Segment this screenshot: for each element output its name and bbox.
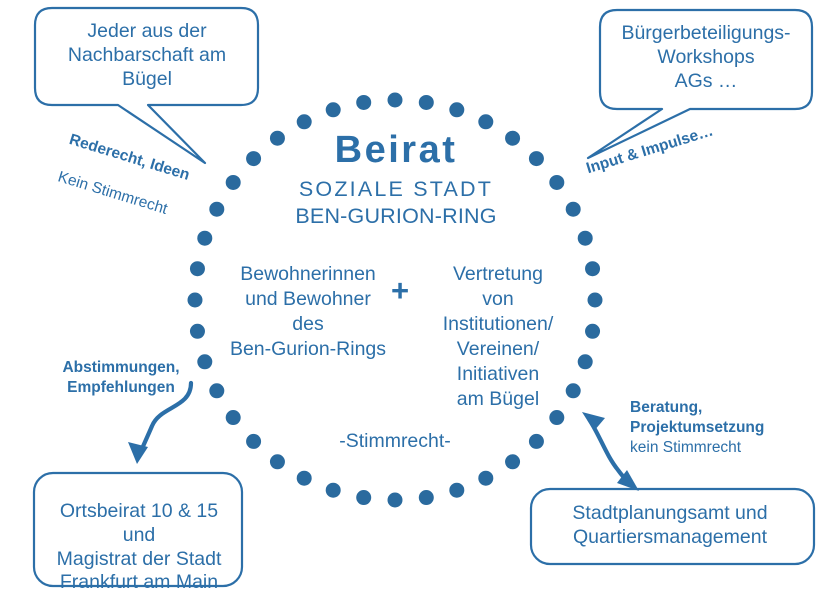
ring-dot [419,490,434,505]
center-voting-note: -Stimmrecht- [300,430,490,454]
ring-dot [190,324,205,339]
ring-dot [529,434,544,449]
ring-dot [326,483,341,498]
box-text-bottom-right: Stadtplanungsamt und Quartiersmanagement [536,502,804,550]
page-title: Beirat [265,127,527,173]
ring-dot [585,261,600,276]
bubble-text-top-right: Bürgerbeteiligungs- Workshops AGs … [608,22,804,93]
ring-dot [209,202,224,217]
ring-dot [356,490,371,505]
ring-dot [326,102,341,117]
ring-dot [197,354,212,369]
ring-dot [449,483,464,498]
ring-dot [578,231,593,246]
center-left-column: Bewohnerinnen und Bewohner des Ben-Gurio… [218,262,398,362]
ring-dot [190,261,205,276]
ring-dot [449,102,464,117]
ring-dot [297,471,312,486]
ring-dot [588,293,603,308]
ring-dot [419,95,434,110]
box-text-bottom-left: Ortsbeirat 10 & 15 und Magistrat der Sta… [40,500,238,595]
center-subtitle-2: BEN-GURION-RING [265,203,527,229]
ring-dot [505,454,520,469]
annotation-top-right: Input & Impulse… [584,121,716,178]
plus-icon: + [384,275,416,306]
center-right-column: Vertretung von Institutionen/ Vereinen/ … [418,262,578,412]
ring-dot [549,175,564,190]
ring-dot [188,293,203,308]
diagram-canvas: Jeder aus der Nachbarschaft am Bügel Bür… [0,0,820,600]
ring-dot [270,454,285,469]
center-subtitle-1: SOZIALE STADT [265,176,527,202]
ring-dot [226,175,241,190]
ring-dot [226,410,241,425]
ring-dot [578,354,593,369]
annotation-top-left: Rederecht, Ideen Kein Stimmrecht [50,112,198,241]
ring-dot [529,151,544,166]
annotation-bottom-right-regular: kein Stimmrecht [630,438,808,458]
ring-dot [197,231,212,246]
ring-dot [585,324,600,339]
annotation-bottom-right: Beratung, Projektumsetzung kein Stimmrec… [630,398,808,458]
annotation-bottom-left: Abstimmungen, Empfehlungen [46,358,196,398]
ring-dot [246,434,261,449]
ring-dot [209,383,224,398]
ring-dot [246,151,261,166]
ring-dot [478,471,493,486]
annotation-bottom-right-bold: Beratung, Projektumsetzung [630,398,808,438]
ring-dot [549,410,564,425]
ring-dot [388,93,403,108]
ring-dot [356,95,371,110]
bubble-text-top-left: Jeder aus der Nachbarschaft am Bügel [44,20,250,91]
ring-dot [388,493,403,508]
ring-dot [566,202,581,217]
